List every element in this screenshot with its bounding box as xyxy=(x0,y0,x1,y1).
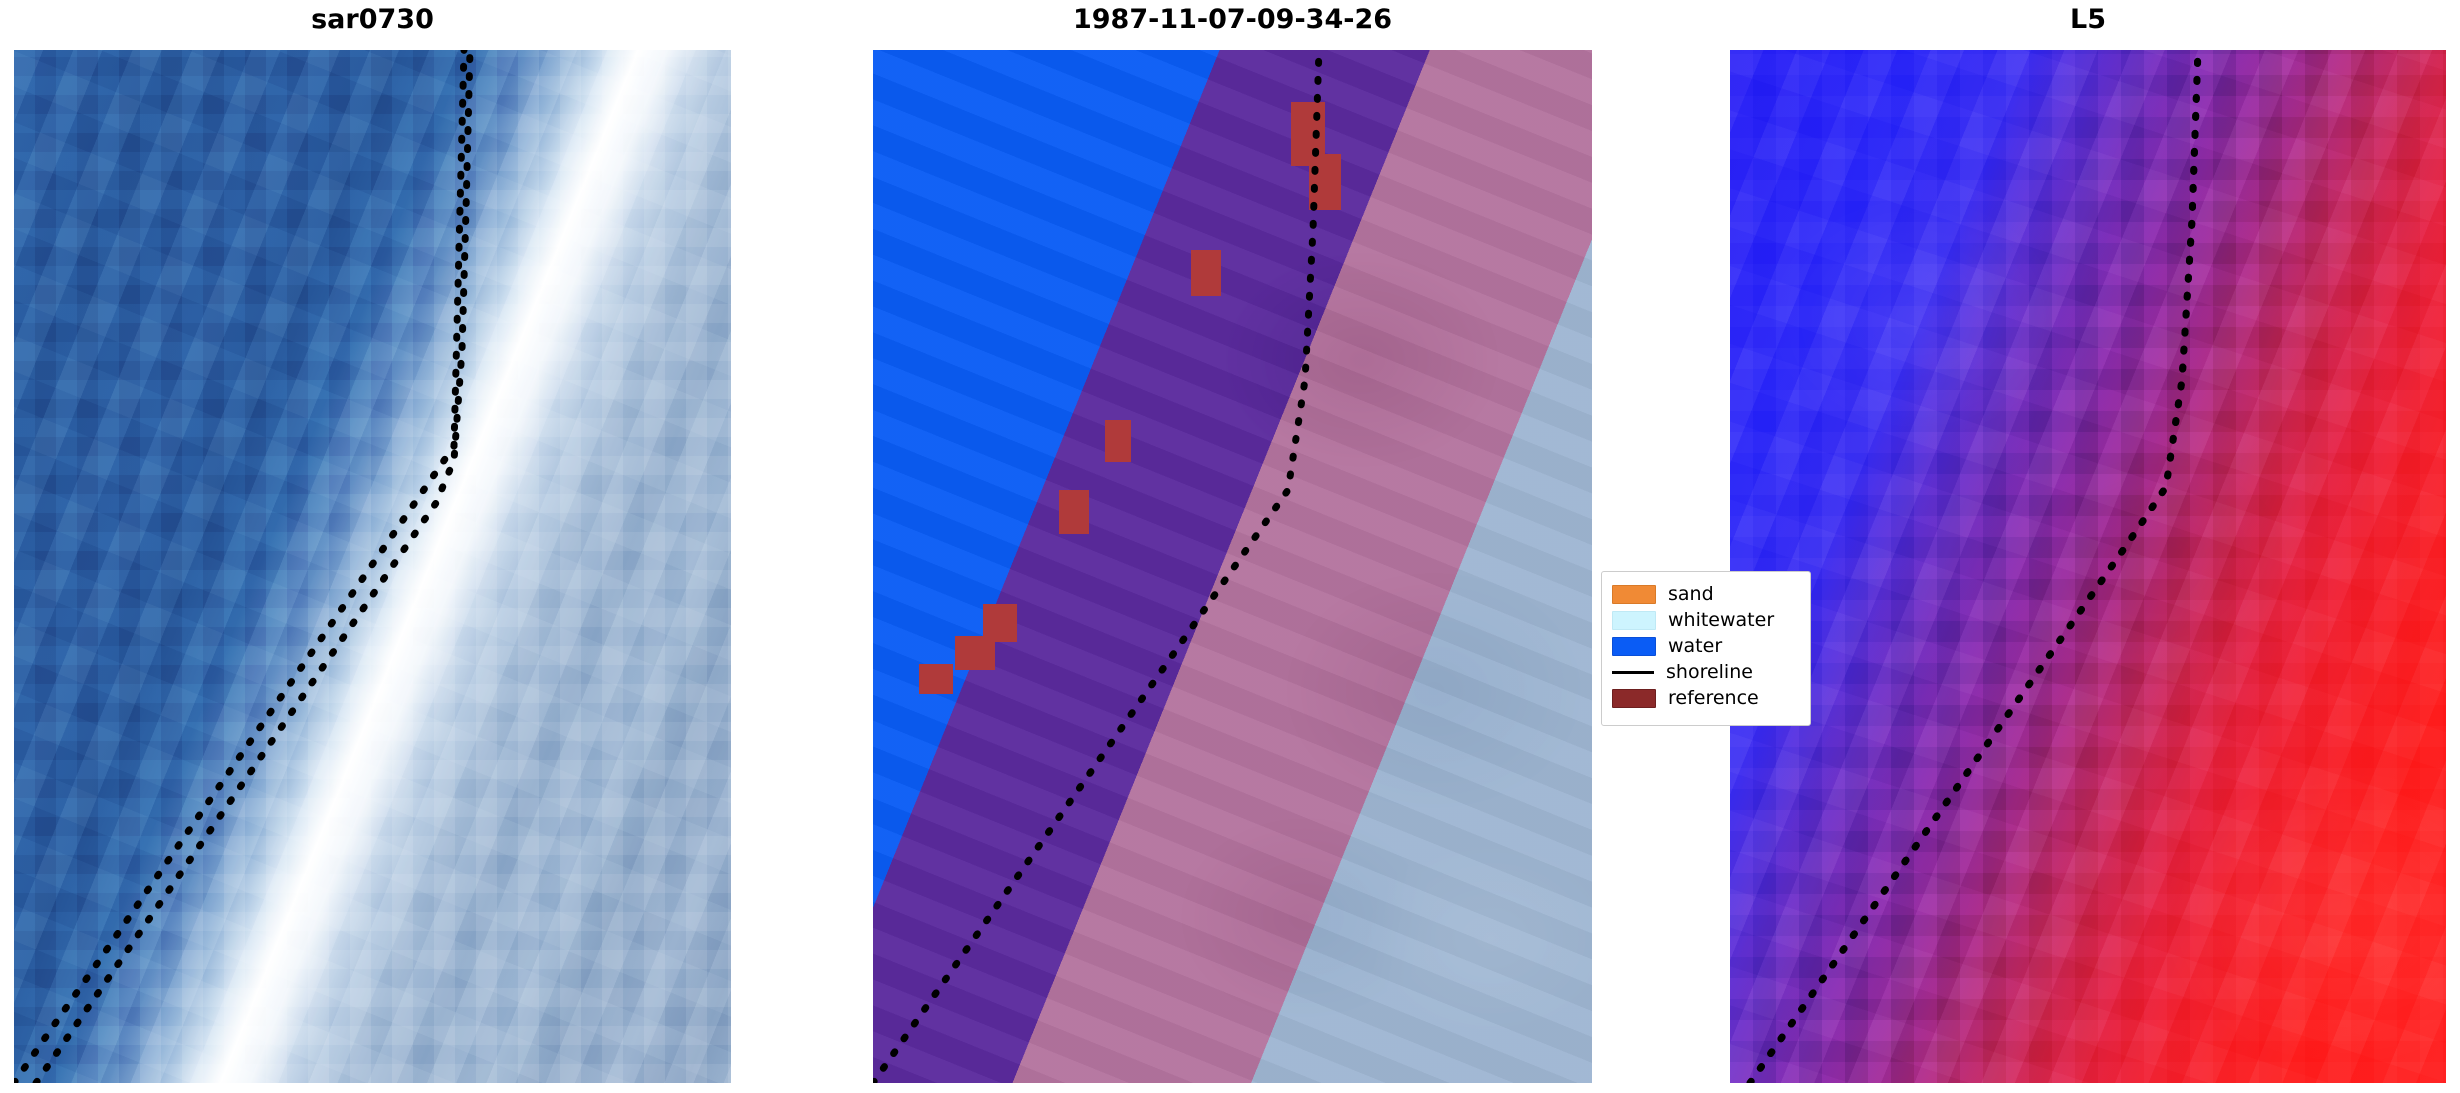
reference-patch xyxy=(955,636,995,670)
reference-patch xyxy=(1309,154,1341,210)
legend-swatch-reference xyxy=(1612,689,1656,708)
reference-patch xyxy=(1191,250,1221,296)
reference-patch xyxy=(1059,490,1089,534)
legend-swatch-sand xyxy=(1612,585,1656,604)
panel-title-classified: 1987-11-07-09-34-26 xyxy=(873,4,1592,35)
legend-item-reference: reference xyxy=(1612,685,1800,711)
classified-sand-texture xyxy=(873,50,1592,1083)
legend-label-sand: sand xyxy=(1668,583,1714,605)
legend-label-whitewater: whitewater xyxy=(1668,609,1774,631)
legend-item-water: water xyxy=(1612,633,1800,659)
panel-classified[interactable] xyxy=(873,50,1592,1083)
legend-item-whitewater: whitewater xyxy=(1612,607,1800,633)
legend-item-sand: sand xyxy=(1612,581,1800,607)
legend-swatch-shoreline xyxy=(1612,671,1654,674)
reference-patch xyxy=(919,664,953,694)
reference-patch xyxy=(1105,420,1131,462)
legend-swatch-whitewater xyxy=(1612,611,1656,630)
panel-sar[interactable] xyxy=(14,50,731,1083)
sar-intensity-mottling xyxy=(14,50,731,1083)
legend-box: sand whitewater water shoreline referenc… xyxy=(1601,571,1811,726)
legend-label-water: water xyxy=(1668,635,1722,657)
figure-canvas: sar0730 1987-11-07-09-34-26 L5 xyxy=(0,0,2460,1093)
legend-label-reference: reference xyxy=(1668,687,1759,709)
panel-title-sar: sar0730 xyxy=(14,4,731,35)
panel-title-l5: L5 xyxy=(1730,4,2446,35)
legend-swatch-water xyxy=(1612,637,1656,656)
legend-label-shoreline: shoreline xyxy=(1666,661,1753,683)
legend-item-shoreline: shoreline xyxy=(1612,659,1800,685)
l5-brightness-variation xyxy=(1730,50,2446,1083)
panel-l5[interactable] xyxy=(1730,50,2446,1083)
